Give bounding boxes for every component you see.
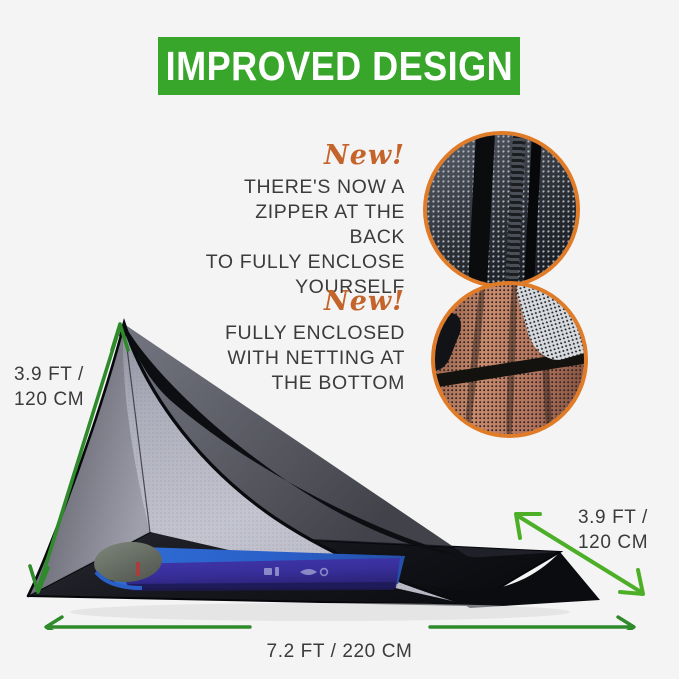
header-banner: IMPROVED DESIGN xyxy=(158,37,520,95)
header-banner-title: IMPROVED DESIGN xyxy=(165,46,512,87)
dimension-label-depth: 3.9 FT / 120 CM xyxy=(578,505,678,555)
dimension-label-height: 3.9 FT / 120 CM xyxy=(14,362,109,412)
mesh-texture xyxy=(427,135,576,284)
tent-illustration xyxy=(0,300,679,630)
callout-zipper-text: THERE'S NOW A ZIPPER AT THE BACK TO FULL… xyxy=(200,175,405,300)
callout-zipper: New! THERE'S NOW A ZIPPER AT THE BACK TO… xyxy=(200,142,405,300)
dimension-label-length-text: 7.2 FT / 220 CM xyxy=(255,639,425,664)
infographic-canvas: IMPROVED DESIGN New! THERE'S NOW A ZIPPE… xyxy=(0,0,679,679)
dimension-label-length: 7.2 FT / 220 CM xyxy=(0,614,679,664)
new-badge-zipper: New! xyxy=(200,142,405,169)
zipper-closeup-photo xyxy=(423,131,580,288)
